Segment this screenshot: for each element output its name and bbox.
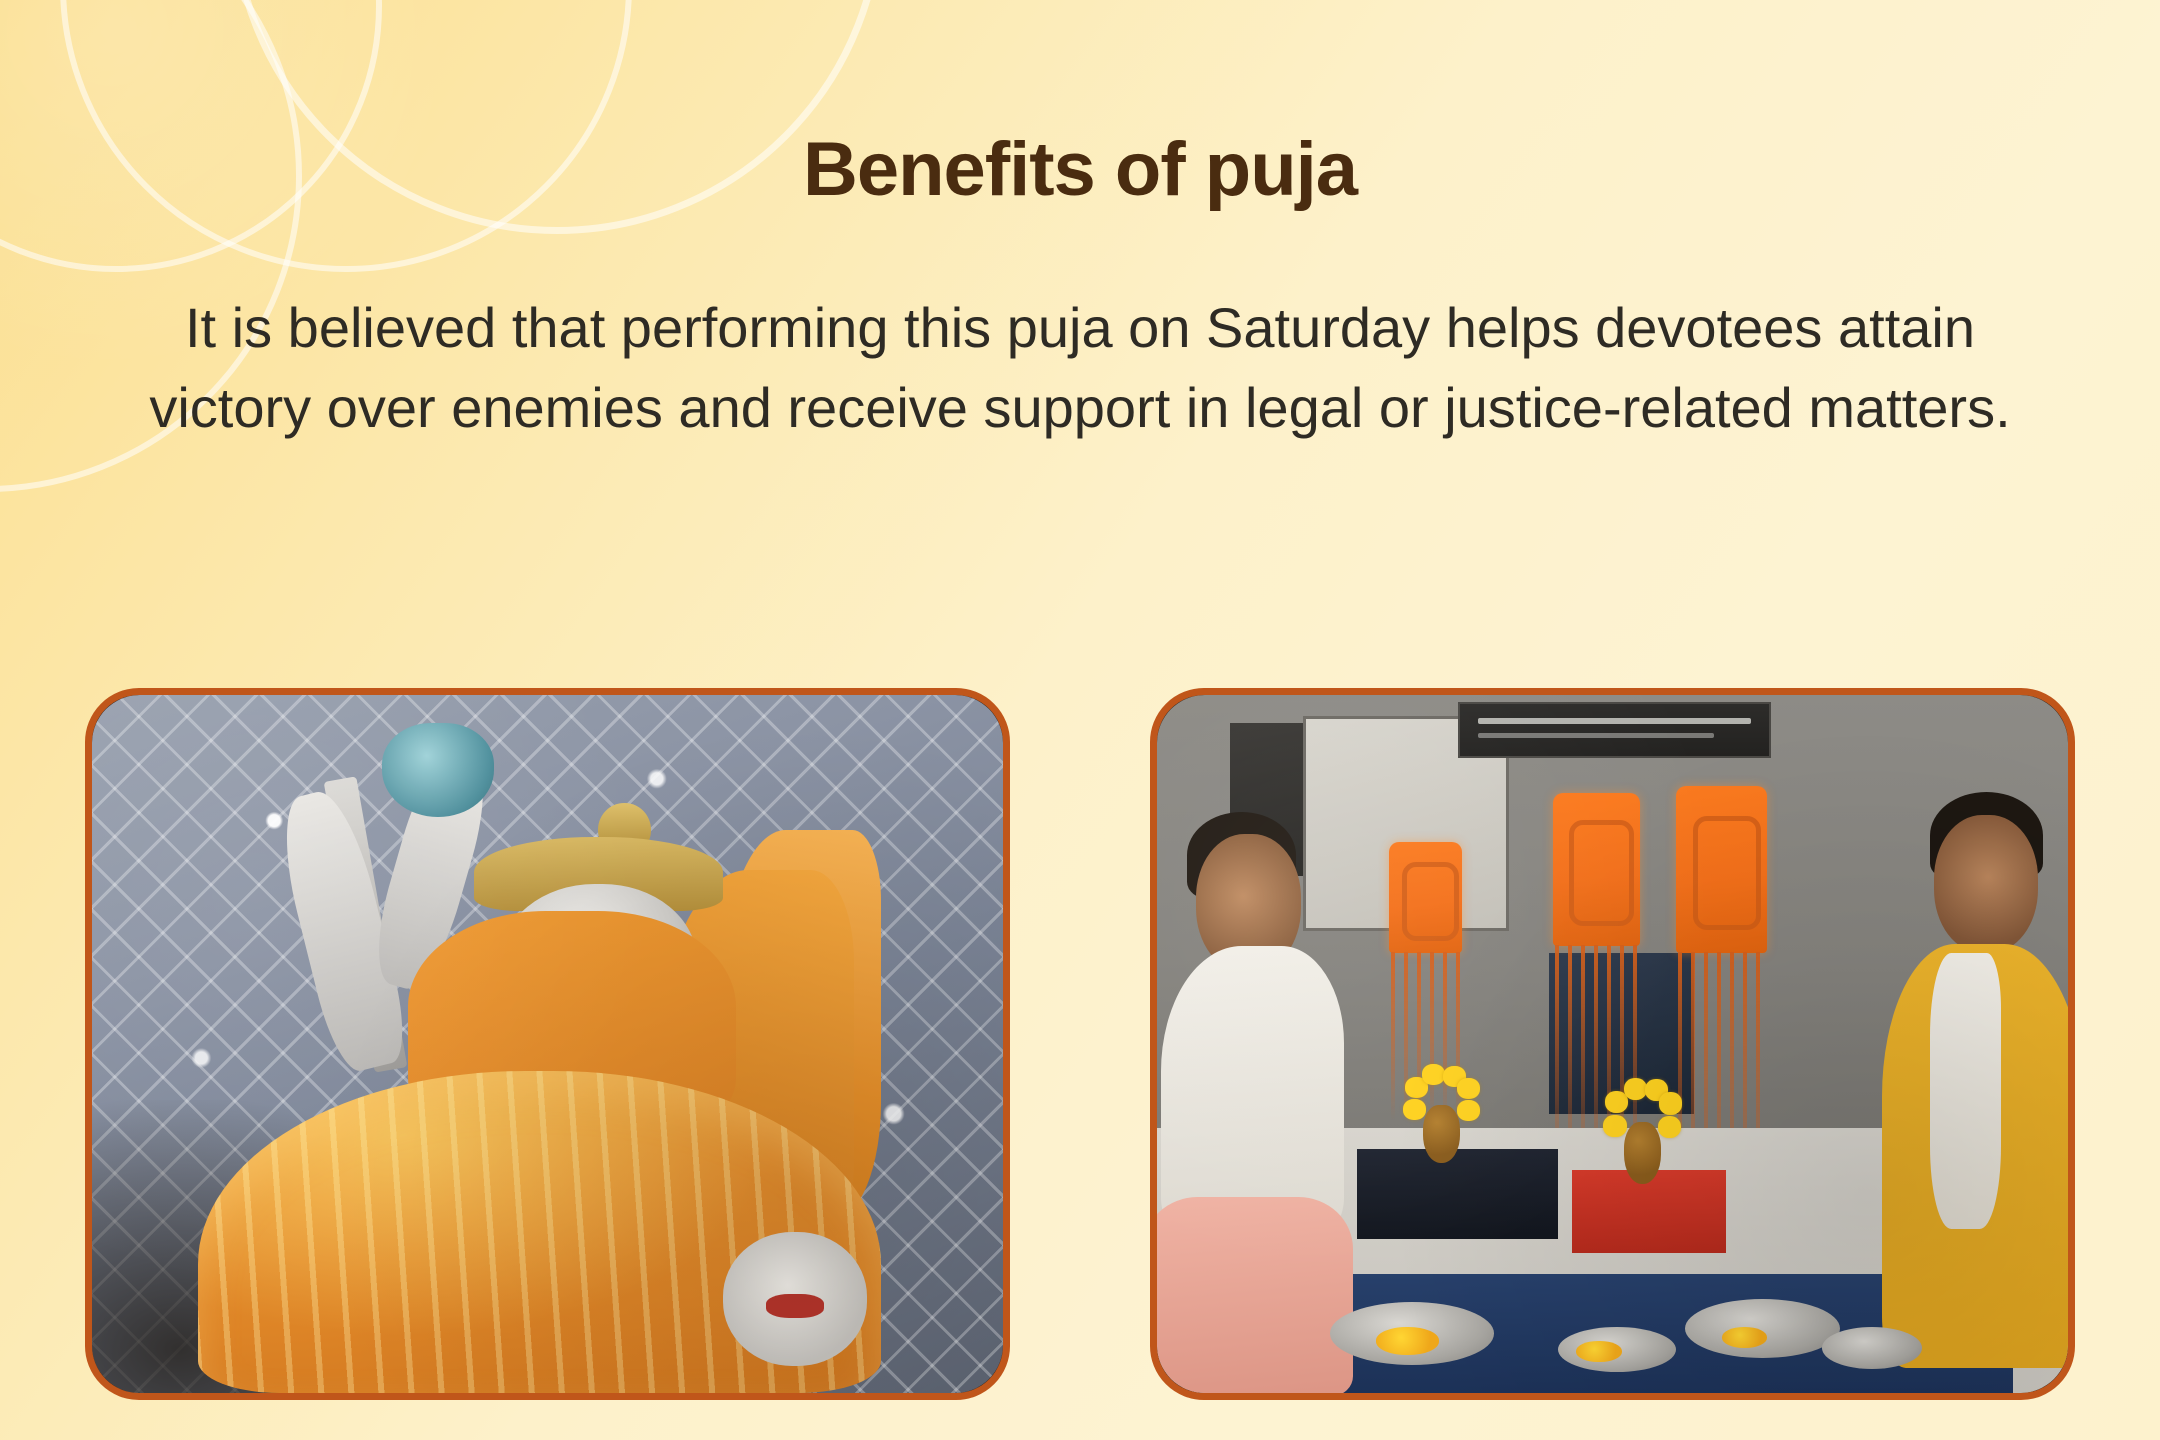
sindoor-niche-3 <box>1676 786 1767 954</box>
sindoor-niche-2 <box>1553 793 1640 947</box>
page-title: Benefits of puja <box>0 132 2160 208</box>
devotee-right-shawl <box>1930 953 2001 1229</box>
thali-marigold-2 <box>1576 1341 1622 1362</box>
niche-inner-outline-1 <box>1402 862 1459 941</box>
devotee-right-head <box>1934 815 2038 953</box>
body-paragraph: It is believed that performing this puja… <box>100 288 2060 447</box>
devotee-right <box>1858 925 2068 1386</box>
slide-canvas: Benefits of puja It is believed that per… <box>0 0 2160 1440</box>
brass-pot-1 <box>1423 1105 1460 1163</box>
temple-signboard <box>1458 702 1772 758</box>
kalash-pot-2 <box>1603 1065 1680 1184</box>
puja-thali-4 <box>1822 1327 1922 1369</box>
brass-pot-2 <box>1624 1122 1661 1184</box>
signboard-text-line-2 <box>1478 733 1713 738</box>
photo-puja-ritual <box>1157 695 2068 1393</box>
niche-inner-outline-3 <box>1693 816 1761 930</box>
deity-held-vessel <box>382 723 494 817</box>
thali-marigold-1 <box>1376 1327 1440 1355</box>
puja-thali-3 <box>1685 1299 1840 1358</box>
demon-head-figure <box>723 1232 867 1366</box>
devotee-left-kurta <box>1161 946 1345 1232</box>
kalash-pot-1 <box>1403 1051 1480 1163</box>
photo-frame-puja-ritual <box>1150 688 2075 1400</box>
sindoor-niche-1 <box>1389 842 1462 954</box>
photo-row <box>0 688 2160 1408</box>
photo-frame-deity <box>85 688 1010 1400</box>
photo-deity <box>92 695 1003 1393</box>
thali-marigold-3 <box>1722 1327 1768 1348</box>
niche-inner-outline-2 <box>1569 820 1634 925</box>
signboard-text-line-1 <box>1478 718 1751 724</box>
deity-idol <box>238 723 894 1393</box>
devotee-left-dhoti <box>1157 1197 1353 1393</box>
devotee-left <box>1157 946 1357 1379</box>
